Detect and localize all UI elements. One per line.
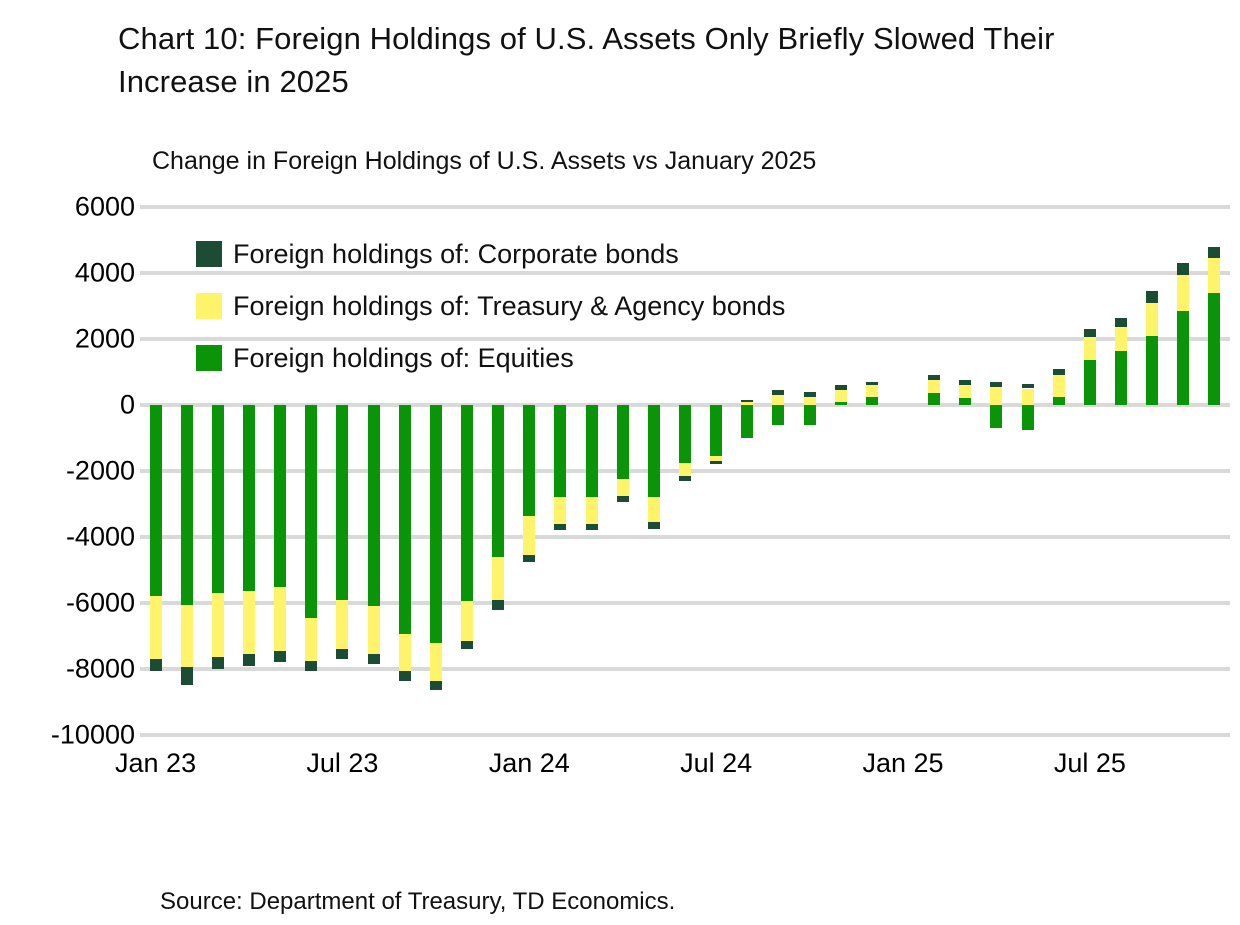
bar-segment-equities	[648, 405, 660, 497]
bar-segment-equities	[274, 405, 286, 587]
bar-segment-equities	[1022, 405, 1034, 430]
bar-segment-treasury-agency-bonds	[336, 600, 348, 650]
bar-segment-equities	[212, 405, 224, 593]
bar-segment-treasury-agency-bonds	[243, 591, 255, 654]
bar-segment-treasury-agency-bonds	[1053, 375, 1065, 396]
bar-segment-corporate-bonds	[336, 649, 348, 659]
bar-segment-corporate-bonds	[710, 461, 722, 464]
chart-subtitle: Change in Foreign Holdings of U.S. Asset…	[152, 147, 816, 176]
legend-item[interactable]: Foreign holdings of: Treasury & Agency b…	[196, 280, 976, 332]
bar-stack	[1208, 207, 1220, 735]
y-axis-tick-label: 2000	[0, 324, 135, 355]
bar-segment-equities	[866, 397, 878, 405]
bar-segment-equities	[461, 405, 473, 601]
bar-segment-treasury-agency-bonds	[586, 497, 598, 523]
bar-segment-treasury-agency-bonds	[835, 390, 847, 402]
bar-segment-corporate-bonds	[617, 496, 629, 503]
bar-segment-equities	[336, 405, 348, 600]
bar-segment-corporate-bonds	[586, 524, 598, 531]
bar-segment-treasury-agency-bonds	[648, 497, 660, 522]
bar-segment-treasury-agency-bonds	[959, 385, 971, 398]
chart-legend: Foreign holdings of: Corporate bondsFore…	[196, 228, 976, 384]
legend-item-label: Foreign holdings of: Corporate bonds	[233, 241, 679, 268]
bar-segment-corporate-bonds	[554, 524, 566, 531]
bar-segment-corporate-bonds	[492, 600, 504, 610]
bar-segment-corporate-bonds	[399, 671, 411, 681]
bar-segment-treasury-agency-bonds	[866, 385, 878, 397]
bar-stack	[1022, 207, 1034, 735]
y-axis-tick-label: -6000	[0, 588, 135, 619]
bar-segment-corporate-bonds	[212, 657, 224, 669]
bar-segment-equities	[1208, 293, 1220, 405]
legend-item-label: Foreign holdings of: Equities	[233, 345, 574, 372]
bar-segment-treasury-agency-bonds	[1022, 389, 1034, 406]
bar-segment-equities	[430, 405, 442, 643]
bar-segment-equities	[399, 405, 411, 634]
bar-segment-equities	[368, 405, 380, 606]
bar-segment-equities	[617, 405, 629, 479]
bar-segment-corporate-bonds	[181, 667, 193, 685]
legend-item[interactable]: Foreign holdings of: Equities	[196, 332, 976, 384]
legend-item[interactable]: Foreign holdings of: Corporate bonds	[196, 228, 976, 280]
bar-segment-treasury-agency-bonds	[1084, 337, 1096, 360]
bar-segment-corporate-bonds	[1022, 384, 1034, 389]
bar-segment-equities	[990, 405, 1002, 428]
bar-segment-equities	[1177, 311, 1189, 405]
bar-segment-corporate-bonds	[1084, 329, 1096, 337]
bar-segment-equities	[305, 405, 317, 618]
bar-segment-equities	[492, 405, 504, 557]
bar-stack	[150, 207, 162, 735]
bar-segment-equities	[586, 405, 598, 497]
bar-segment-corporate-bonds	[1177, 263, 1189, 275]
x-axis-tick-labels: Jan 23Jul 23Jan 24Jul 24Jan 25Jul 25	[140, 748, 1230, 790]
bar-segment-equities	[1084, 360, 1096, 405]
bar-segment-corporate-bonds	[1053, 369, 1065, 376]
bar-segment-corporate-bonds	[430, 681, 442, 691]
bar-segment-equities	[181, 405, 193, 605]
bar-segment-corporate-bonds	[274, 651, 286, 663]
source-note: Source: Department of Treasury, TD Econo…	[160, 888, 675, 916]
bar-segment-corporate-bonds	[1208, 247, 1220, 259]
bar-segment-treasury-agency-bonds	[1115, 327, 1127, 350]
bar-segment-corporate-bonds	[772, 390, 784, 395]
x-axis-tick-label: Jul 25	[1054, 748, 1126, 779]
bar-segment-corporate-bonds	[741, 400, 753, 402]
bar-stack	[1177, 207, 1189, 735]
page-title: Chart 10: Foreign Holdings of U.S. Asset…	[118, 18, 1158, 104]
bar-segment-equities	[959, 398, 971, 405]
y-axis-tick-label: 6000	[0, 192, 135, 223]
bar-segment-equities	[741, 405, 753, 438]
bar-segment-treasury-agency-bonds	[274, 587, 286, 651]
bar-stack	[1053, 207, 1065, 735]
bar-segment-treasury-agency-bonds	[1146, 303, 1158, 336]
legend-swatch-treasury-agency-bonds	[196, 293, 222, 319]
bar-segment-corporate-bonds	[679, 476, 691, 481]
bar-segment-corporate-bonds	[523, 555, 535, 562]
y-axis-tick-label: -4000	[0, 522, 135, 553]
bar-segment-treasury-agency-bonds	[990, 387, 1002, 405]
bar-segment-treasury-agency-bonds	[430, 643, 442, 681]
legend-item-label: Foreign holdings of: Treasury & Agency b…	[233, 293, 785, 320]
bar-segment-treasury-agency-bonds	[741, 402, 753, 405]
bar-stack	[990, 207, 1002, 735]
bar-segment-treasury-agency-bonds	[554, 497, 566, 523]
bar-segment-treasury-agency-bonds	[305, 618, 317, 661]
bar-segment-equities	[804, 405, 816, 425]
bar-segment-equities	[523, 405, 535, 516]
bar-segment-treasury-agency-bonds	[1177, 275, 1189, 311]
bar-segment-treasury-agency-bonds	[399, 634, 411, 670]
bar-segment-treasury-agency-bonds	[181, 605, 193, 668]
bar-segment-treasury-agency-bonds	[492, 557, 504, 600]
legend-swatch-corporate-bonds	[196, 241, 222, 267]
bar-segment-treasury-agency-bonds	[368, 606, 380, 654]
bar-segment-treasury-agency-bonds	[1208, 258, 1220, 293]
bar-segment-equities	[835, 402, 847, 405]
bar-segment-corporate-bonds	[990, 382, 1002, 387]
bar-segment-treasury-agency-bonds	[679, 463, 691, 476]
bar-segment-corporate-bonds	[648, 522, 660, 529]
bar-stack	[1084, 207, 1096, 735]
bar-segment-corporate-bonds	[243, 654, 255, 666]
bar-segment-treasury-agency-bonds	[772, 395, 784, 405]
bar-segment-corporate-bonds	[1146, 291, 1158, 303]
y-axis-tick-label: 4000	[0, 258, 135, 289]
bar-segment-corporate-bonds	[835, 385, 847, 390]
bar-segment-corporate-bonds	[150, 659, 162, 671]
y-axis-tick-label: 0	[0, 390, 135, 421]
x-axis-tick-label: Jan 23	[115, 748, 196, 779]
bar-segment-corporate-bonds	[1115, 318, 1127, 328]
bar-stack	[1146, 207, 1158, 735]
x-axis-tick-label: Jan 24	[489, 748, 570, 779]
x-axis-tick-label: Jul 24	[680, 748, 752, 779]
y-axis-tick-label: -10000	[0, 720, 135, 751]
bar-segment-equities	[1146, 336, 1158, 405]
bar-stack	[181, 207, 193, 735]
bar-segment-treasury-agency-bonds	[804, 397, 816, 405]
bar-stack	[1115, 207, 1127, 735]
bar-segment-equities	[243, 405, 255, 591]
bar-segment-corporate-bonds	[305, 661, 317, 671]
y-axis-tick-label: -2000	[0, 456, 135, 487]
bar-segment-equities	[1053, 397, 1065, 405]
bar-segment-corporate-bonds	[804, 392, 816, 397]
bar-segment-treasury-agency-bonds	[523, 516, 535, 556]
bar-segment-equities	[710, 405, 722, 456]
bar-segment-treasury-agency-bonds	[150, 596, 162, 659]
y-axis-tick-label: -8000	[0, 654, 135, 685]
bar-segment-treasury-agency-bonds	[212, 593, 224, 657]
bar-segment-equities	[554, 405, 566, 497]
x-axis-tick-label: Jan 25	[862, 748, 943, 779]
bar-segment-equities	[1115, 351, 1127, 405]
bar-segment-treasury-agency-bonds	[461, 601, 473, 641]
bar-segment-corporate-bonds	[368, 654, 380, 664]
bar-segment-equities	[679, 405, 691, 463]
legend-swatch-equities	[196, 345, 222, 371]
bar-segment-corporate-bonds	[461, 641, 473, 649]
bar-segment-treasury-agency-bonds	[617, 479, 629, 496]
bar-segment-equities	[928, 393, 940, 405]
bar-segment-equities	[150, 405, 162, 596]
x-axis-tick-label: Jul 23	[306, 748, 378, 779]
bar-segment-equities	[772, 405, 784, 425]
